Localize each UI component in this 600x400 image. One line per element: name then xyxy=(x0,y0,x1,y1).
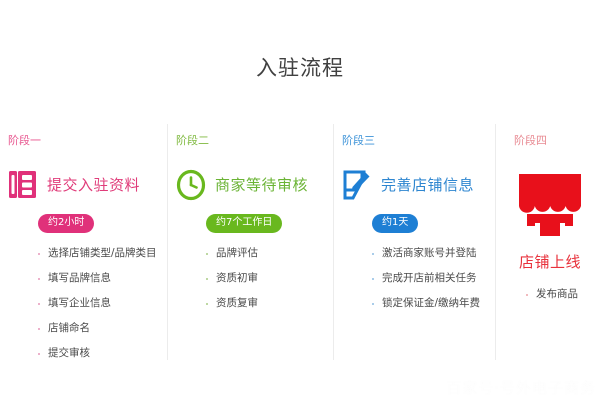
list-item: 发布商品 xyxy=(526,288,600,301)
stage-label-4: 阶段四 xyxy=(504,134,600,148)
list-item: 锁定保证金/缴纳年费 xyxy=(372,297,496,310)
list-item: 提交审核 xyxy=(38,347,168,360)
list-item: 填写品牌信息 xyxy=(38,272,168,285)
documents-icon xyxy=(8,169,38,201)
stage-name-4: 店铺上线 xyxy=(504,252,596,272)
stage-header-4: 店铺上线 xyxy=(504,168,600,272)
watermark: 百家号·号外电子商务 xyxy=(446,378,596,398)
stage-duration-badge-3: 约1天 xyxy=(372,214,418,233)
list-item: 激活商家账号并登陆 xyxy=(372,247,496,260)
stage-column-3: 阶段三 完善店铺信息 约1天 激活商家账号并登陆 完成开店前相关任务 锁定保证金… xyxy=(334,134,496,380)
list-item: 完成开店前相关任务 xyxy=(372,272,496,285)
stage-column-4: 阶段四 店铺上线 发布商品 xyxy=(496,134,600,380)
stage-item-list-2: 品牌评估 资质初审 资质复审 xyxy=(206,247,334,310)
stage-duration-badge-1: 约2小时 xyxy=(38,214,94,233)
list-item: 店铺命名 xyxy=(38,322,168,335)
list-item: 品牌评估 xyxy=(206,247,334,260)
stage-column-2: 阶段二 商家等待审核 约7个工作日 品牌评估 资质初审 资质复审 xyxy=(168,134,334,380)
onboarding-flow-page: 入驻流程 阶段一 提交入驻资料 约 xyxy=(0,0,600,400)
stage-label-3: 阶段三 xyxy=(342,134,496,148)
stage-name-1: 提交入驻资料 xyxy=(47,176,140,194)
stage-label-2: 阶段二 xyxy=(176,134,334,148)
list-item: 资质初审 xyxy=(206,272,334,285)
stage-item-list-3: 激活商家账号并登陆 完成开店前相关任务 锁定保证金/缴纳年费 xyxy=(372,247,496,310)
stage-duration-badge-2: 约7个工作日 xyxy=(206,214,282,233)
stages-container: 阶段一 提交入驻资料 约2小时 选择店铺类型/品牌类目 xyxy=(0,134,600,380)
stage-name-2: 商家等待审核 xyxy=(215,176,308,194)
stage-item-list-4: 发布商品 xyxy=(526,288,600,301)
stage-header-1: 提交入驻资料 xyxy=(8,168,168,202)
clock-icon xyxy=(176,169,206,201)
page-title: 入驻流程 xyxy=(256,52,344,82)
list-item: 选择店铺类型/品牌类目 xyxy=(38,247,168,260)
shop-icon xyxy=(513,227,587,246)
stage-name-3: 完善店铺信息 xyxy=(381,176,474,194)
list-item: 资质复审 xyxy=(206,297,334,310)
stage-column-1: 阶段一 提交入驻资料 约2小时 选择店铺类型/品牌类目 xyxy=(0,134,168,380)
stage-item-list-1: 选择店铺类型/品牌类目 填写品牌信息 填写企业信息 店铺命名 提交审核 xyxy=(38,247,168,360)
stage-header-2: 商家等待审核 xyxy=(176,168,334,202)
stage-label-1: 阶段一 xyxy=(8,134,168,148)
stage-header-3: 完善店铺信息 xyxy=(342,168,496,202)
edit-icon xyxy=(342,169,372,201)
page-title-wrapper: 入驻流程 xyxy=(0,52,600,82)
list-item: 填写企业信息 xyxy=(38,297,168,310)
